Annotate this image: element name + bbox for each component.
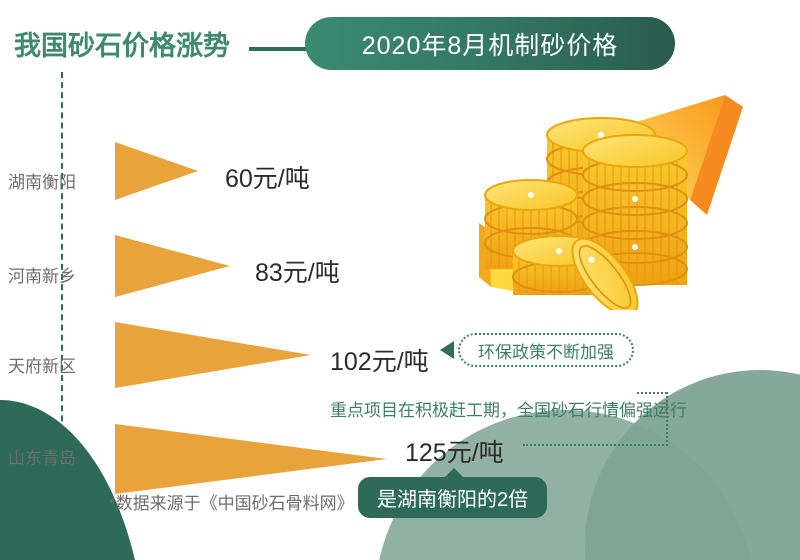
bracket-top-segment [637, 392, 667, 394]
page-title: 我国砂石价格涨势 [14, 24, 230, 63]
bracket-horizontal-segment [523, 444, 668, 446]
callout-policy: 环保政策不断加强 [458, 333, 634, 367]
title-connector-rule [249, 47, 309, 51]
infographic-canvas: 我国砂石价格涨势 2020年8月机制砂价格 湖南衡阳60元/吨河南新乡83元/吨… [0, 0, 800, 560]
callout-arrow-icon [440, 341, 454, 359]
bar-wedge [115, 424, 387, 494]
bar-value-label: 83元/吨 [255, 253, 340, 289]
bubble-comparison: 是湖南衡阳的2倍 [358, 477, 547, 518]
bar-value-label: 125元/吨 [405, 433, 504, 469]
bar-wedge [115, 235, 230, 297]
gold-coin-stacks-icon [455, 55, 755, 310]
callout-policy-label: 环保政策不断加强 [478, 338, 614, 363]
bar-row-label: 山东青岛 [8, 444, 76, 469]
bar-row-label: 河南新乡 [8, 262, 76, 287]
note-market: 重点项目在积极赶工期，全国砂石行情偏强运行 [330, 396, 687, 421]
bubble-comparison-label: 是湖南衡阳的2倍 [377, 483, 528, 512]
bar-wedge [115, 322, 311, 388]
bracket-vertical-segment [666, 392, 668, 446]
bar-row-label: 湖南衡阳 [8, 168, 76, 193]
source-note: *数据来源于《中国砂石骨料网》 [109, 489, 354, 514]
bar-row-label: 天府新区 [8, 352, 76, 377]
bar-value-label: 60元/吨 [225, 159, 310, 195]
bar-wedge [115, 142, 198, 200]
bar-value-label: 102元/吨 [330, 342, 429, 378]
